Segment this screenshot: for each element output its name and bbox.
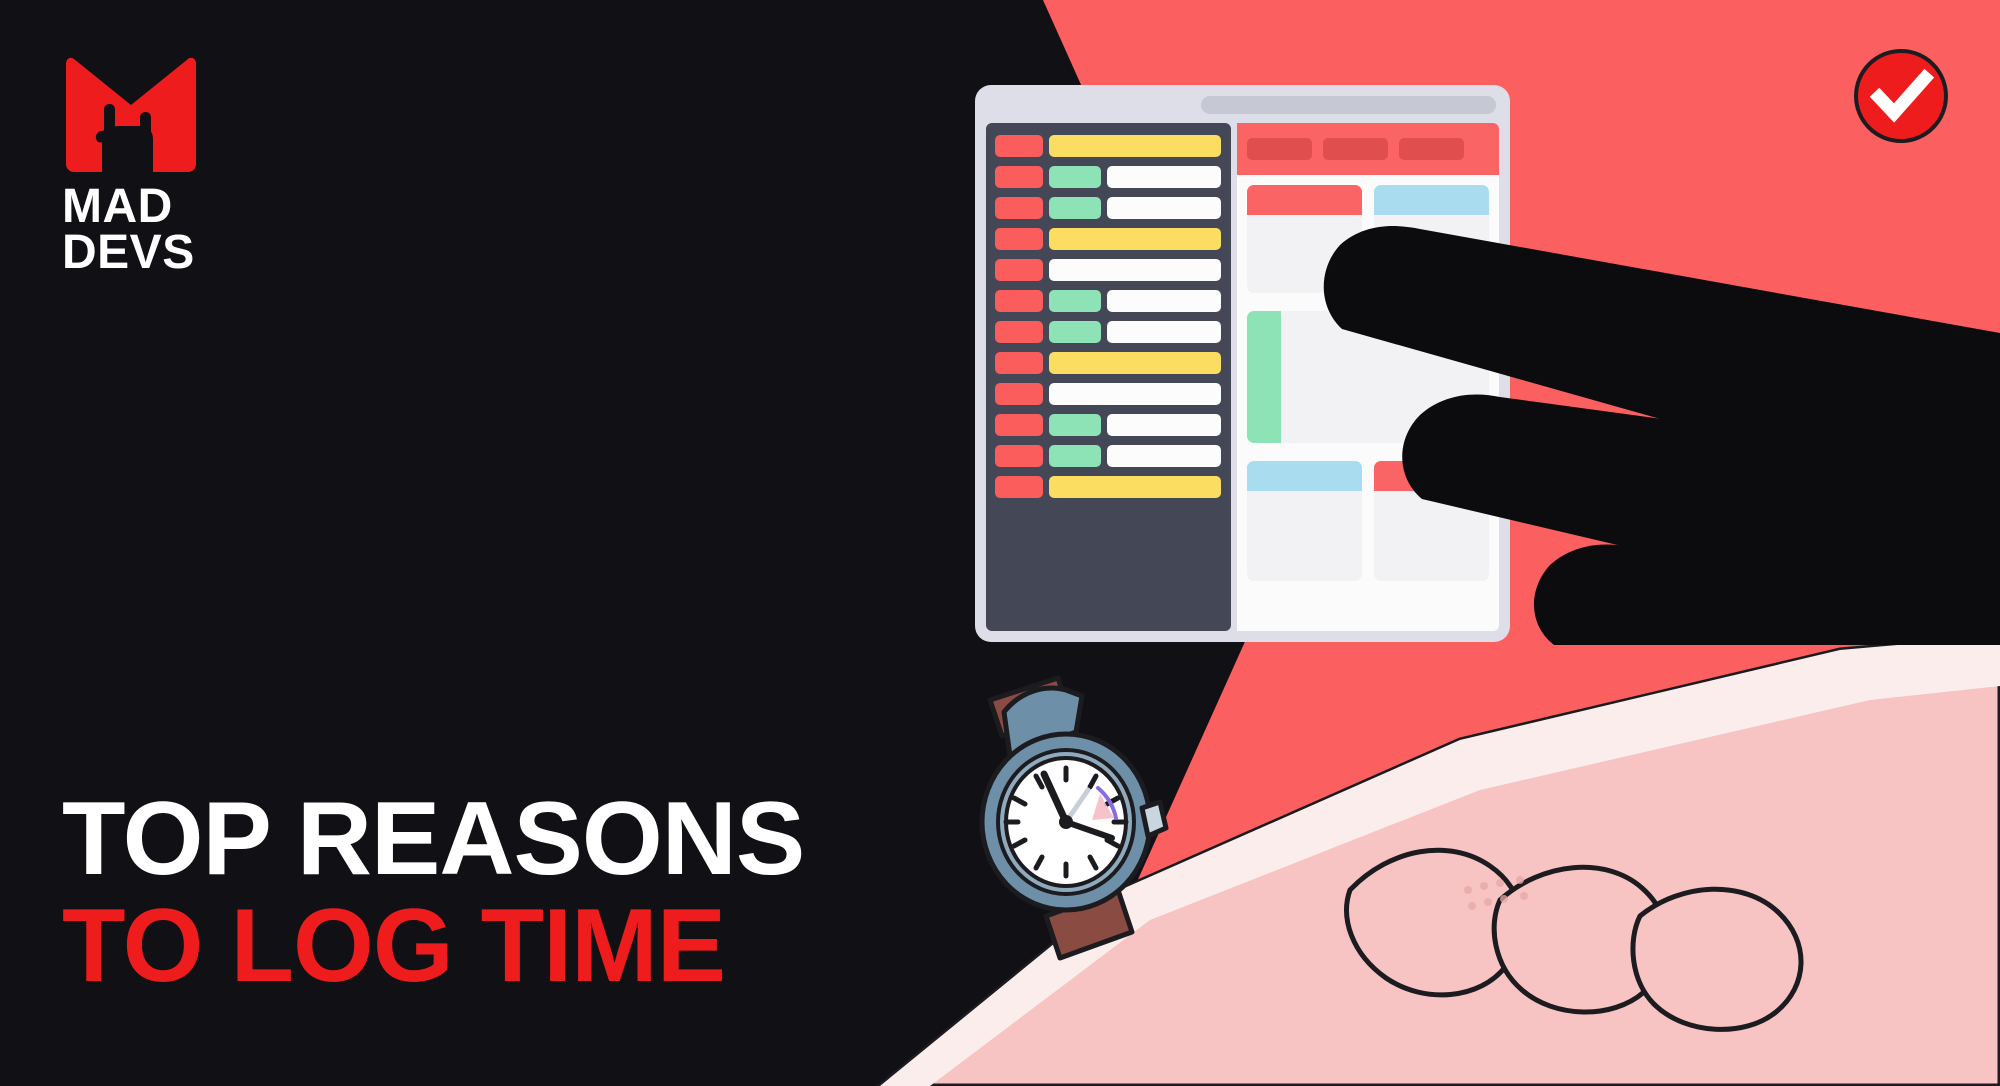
task-title-bar (1107, 445, 1221, 467)
tablet-topbar (975, 85, 1510, 123)
task-list-row[interactable] (986, 225, 1231, 252)
task-status-chip (1049, 166, 1101, 188)
task-list-row[interactable] (986, 349, 1231, 376)
task-list-row[interactable] (986, 380, 1231, 407)
task-list-row[interactable] (986, 473, 1231, 500)
check-badge[interactable] (1852, 47, 1950, 145)
task-title-bar (1049, 476, 1221, 498)
headline-line-1: TOP REASONS (62, 790, 804, 889)
task-list-row[interactable] (986, 256, 1231, 283)
card-strip-blue (1374, 185, 1489, 215)
headline-line-2: TO LOG TIME (62, 897, 804, 996)
task-tag-chip (995, 352, 1043, 374)
task-title-bar (1107, 197, 1221, 219)
headline: TOP REASONS TO LOG TIME (62, 790, 804, 996)
task-list-row[interactable] (986, 411, 1231, 438)
task-tag-chip (995, 383, 1043, 405)
task-title-bar (1107, 321, 1221, 343)
task-status-chip (1049, 414, 1101, 436)
task-tag-chip (995, 197, 1043, 219)
task-tag-chip (995, 321, 1043, 343)
task-title-bar (1049, 228, 1221, 250)
task-status-chip (1049, 290, 1101, 312)
search-pill[interactable] (1201, 96, 1496, 114)
task-title-bar (1049, 383, 1221, 405)
task-list-row[interactable] (986, 287, 1231, 314)
card-strip-red (1247, 185, 1362, 215)
task-tag-chip (995, 166, 1043, 188)
calendar-header-tab[interactable] (1247, 138, 1312, 160)
task-status-chip (1049, 321, 1101, 343)
task-tag-chip (995, 228, 1043, 250)
task-tag-chip (995, 290, 1043, 312)
mad-devs-m-rock-hand-mark (62, 56, 200, 174)
calendar-header-tab[interactable] (1323, 138, 1388, 160)
task-title-bar (1107, 414, 1221, 436)
task-title-bar (1107, 166, 1221, 188)
logo-word-line1: MAD (62, 184, 195, 230)
banner-stage: MAD DEVS TOP REASONS TO LOG TIME (0, 0, 2000, 1086)
pointing-hand-silhouette (1300, 215, 2000, 645)
calendar-header-tab[interactable] (1399, 138, 1464, 160)
task-list-row[interactable] (986, 163, 1231, 190)
task-tag-chip (995, 476, 1043, 498)
task-tag-chip (995, 259, 1043, 281)
calendar-header-tabs[interactable] (1237, 123, 1499, 175)
task-status-chip (1049, 197, 1101, 219)
task-title-bar (1107, 290, 1221, 312)
brand-logo[interactable]: MAD DEVS (62, 56, 262, 271)
logo-wordmark: MAD DEVS (62, 184, 195, 275)
card-strip-green (1247, 311, 1281, 443)
task-status-chip (1049, 445, 1101, 467)
task-list-row[interactable] (986, 132, 1231, 159)
task-list-row[interactable] (986, 442, 1231, 469)
task-tag-chip (995, 135, 1043, 157)
task-list-row[interactable] (986, 318, 1231, 345)
task-tag-chip (995, 414, 1043, 436)
logo-mark (62, 56, 200, 174)
task-title-bar (1049, 135, 1221, 157)
task-list-row[interactable] (986, 194, 1231, 221)
task-tag-chip (995, 445, 1043, 467)
task-title-bar (1049, 259, 1221, 281)
task-title-bar (1049, 352, 1221, 374)
logo-word-line2: DEVS (62, 230, 195, 276)
